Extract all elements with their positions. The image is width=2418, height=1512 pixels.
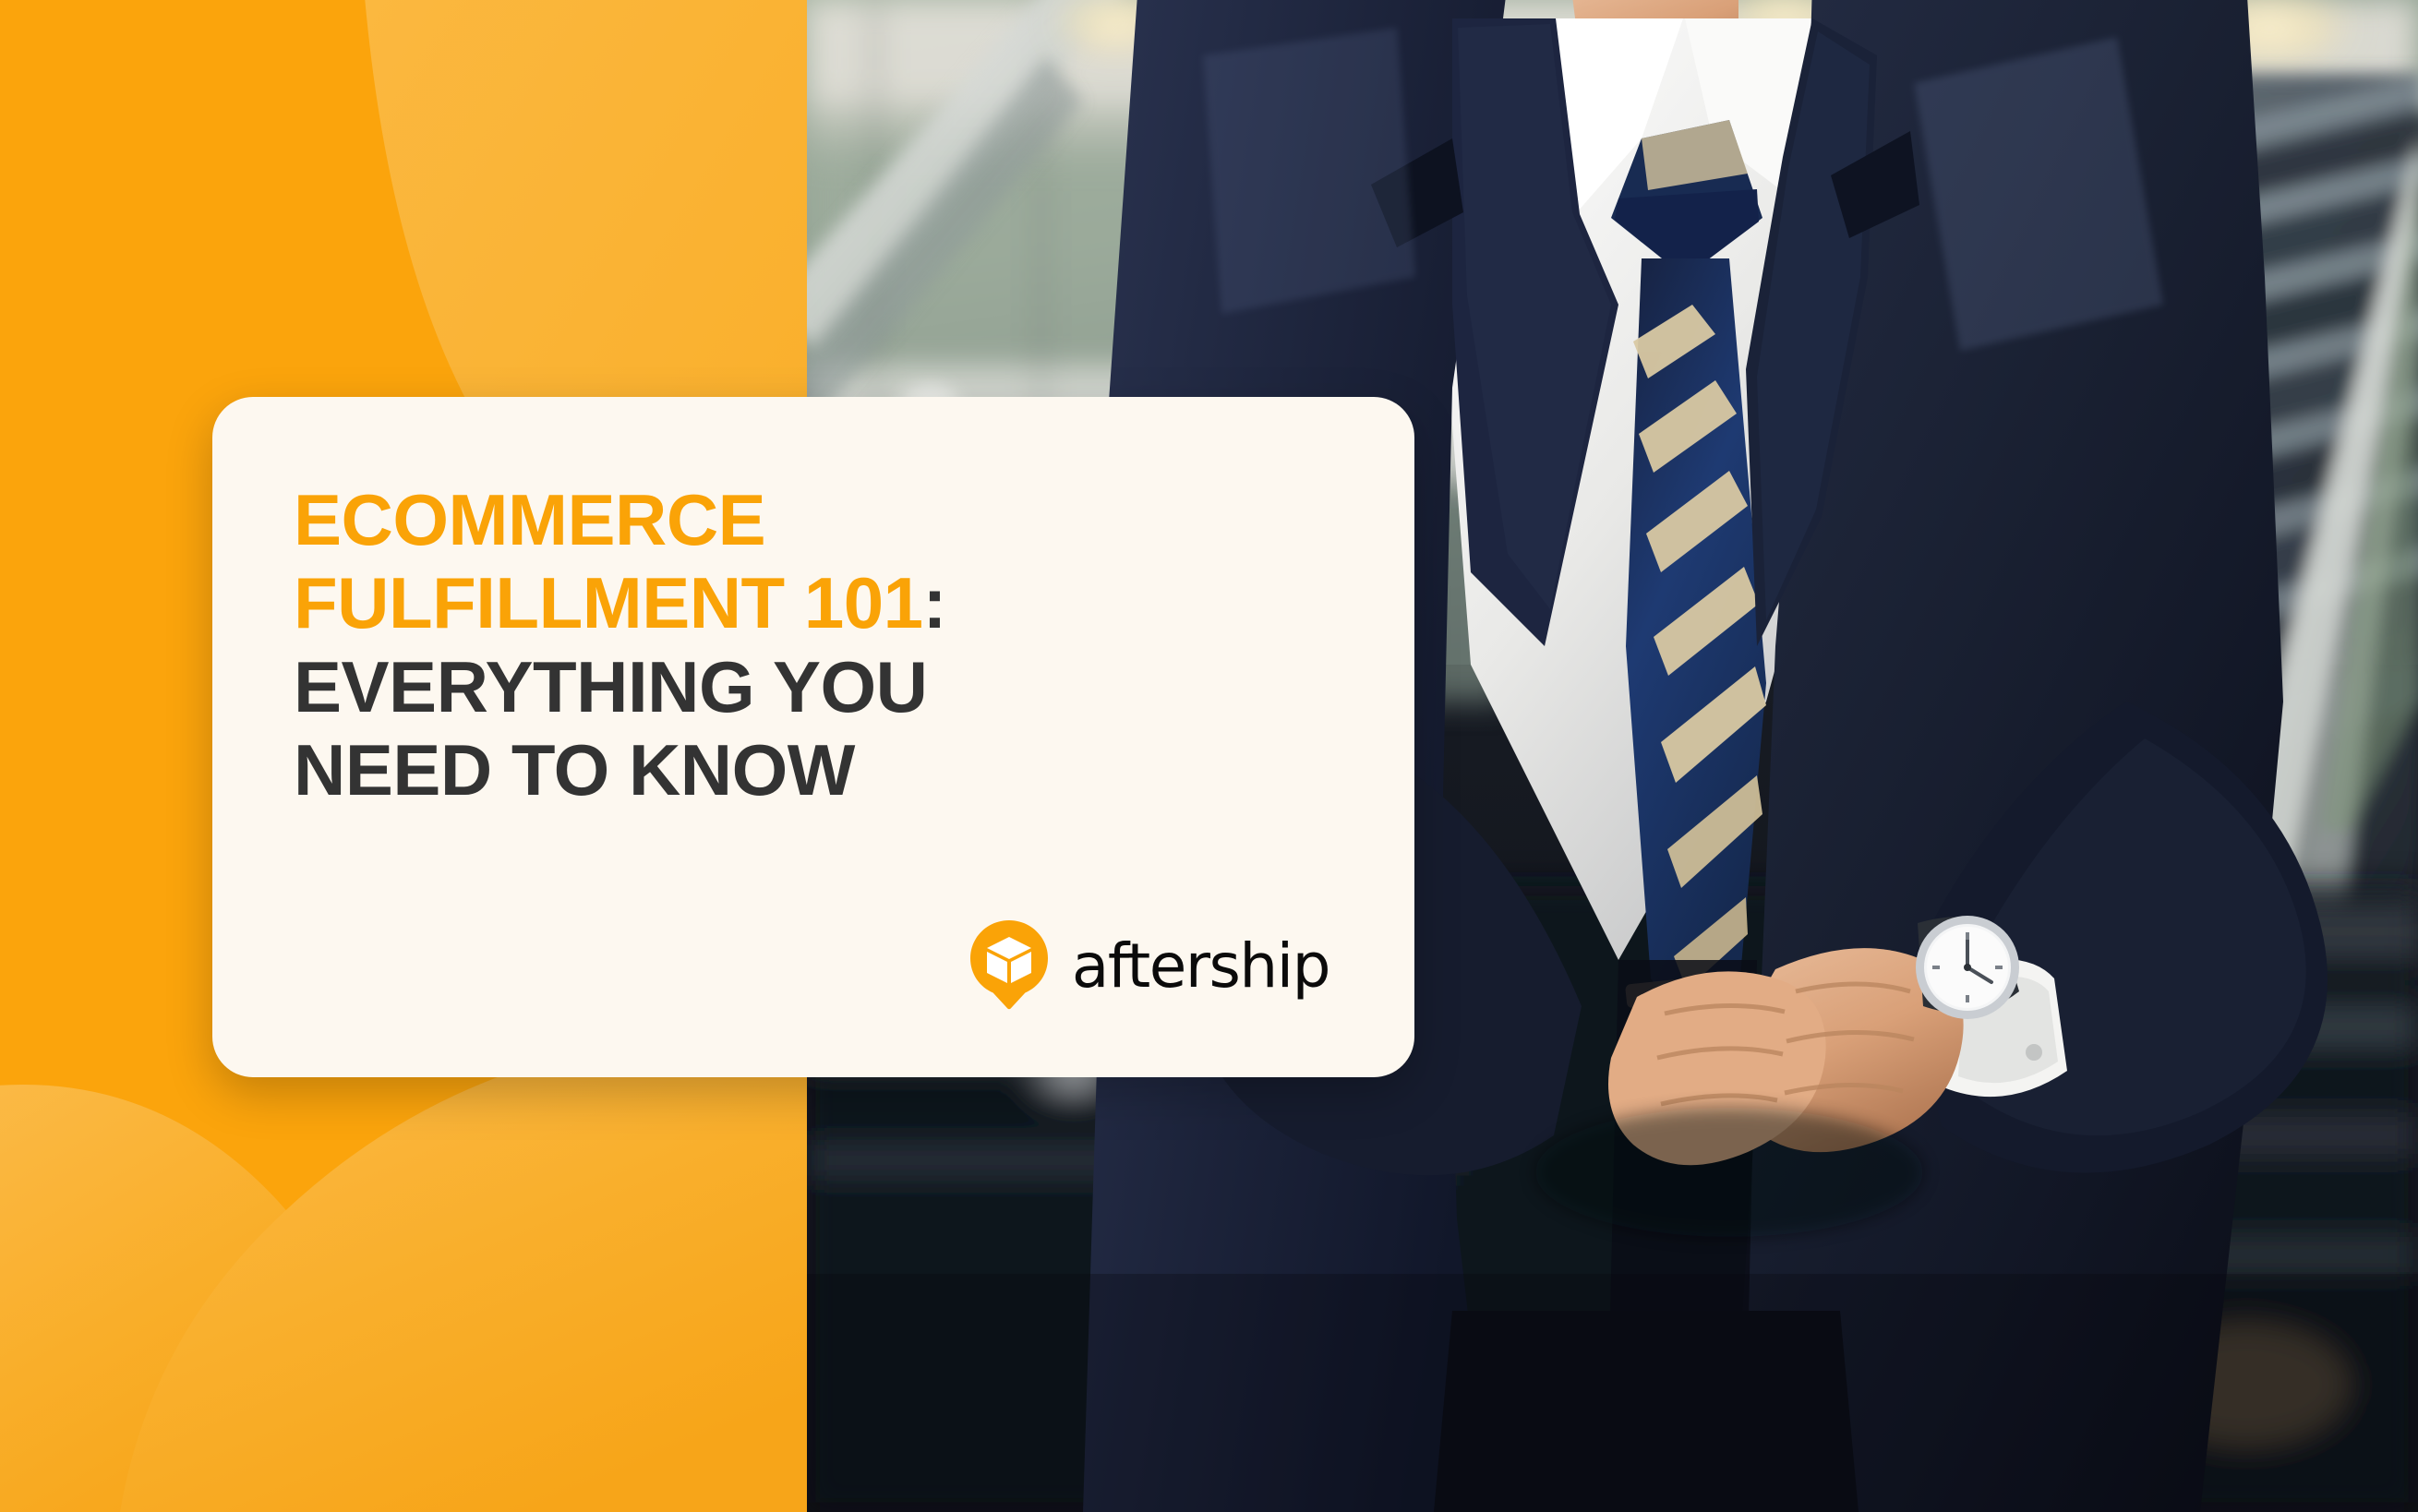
- headline-line-1-text: ECOMMERCE: [294, 479, 765, 560]
- headline-line-3-text: EVERYTHING YOU: [294, 646, 927, 727]
- headline-line-2-colon: :: [923, 562, 946, 643]
- headline-line-2-text: FULFILLMENT 101: [294, 562, 923, 643]
- headline-line-4: NEED TO KNOW: [294, 728, 1414, 811]
- aftership-wordmark: aftership: [1072, 936, 1329, 997]
- page-title: ECOMMERCE FULFILLMENT 101: EVERYTHING YO…: [294, 478, 1414, 812]
- aftership-pin-cube-icon: [967, 918, 1052, 1011]
- headline-line-1: ECOMMERCE: [294, 478, 1414, 561]
- headline-line-2: FULFILLMENT 101:: [294, 561, 1414, 644]
- banner-canvas: ECOMMERCE FULFILLMENT 101: EVERYTHING YO…: [0, 0, 2418, 1512]
- aftership-logo: aftership: [967, 918, 1329, 1011]
- headline-line-3: EVERYTHING YOU: [294, 645, 1414, 728]
- headline-card: ECOMMERCE FULFILLMENT 101: EVERYTHING YO…: [212, 397, 1414, 1077]
- headline-line-4-text: NEED TO KNOW: [294, 729, 855, 810]
